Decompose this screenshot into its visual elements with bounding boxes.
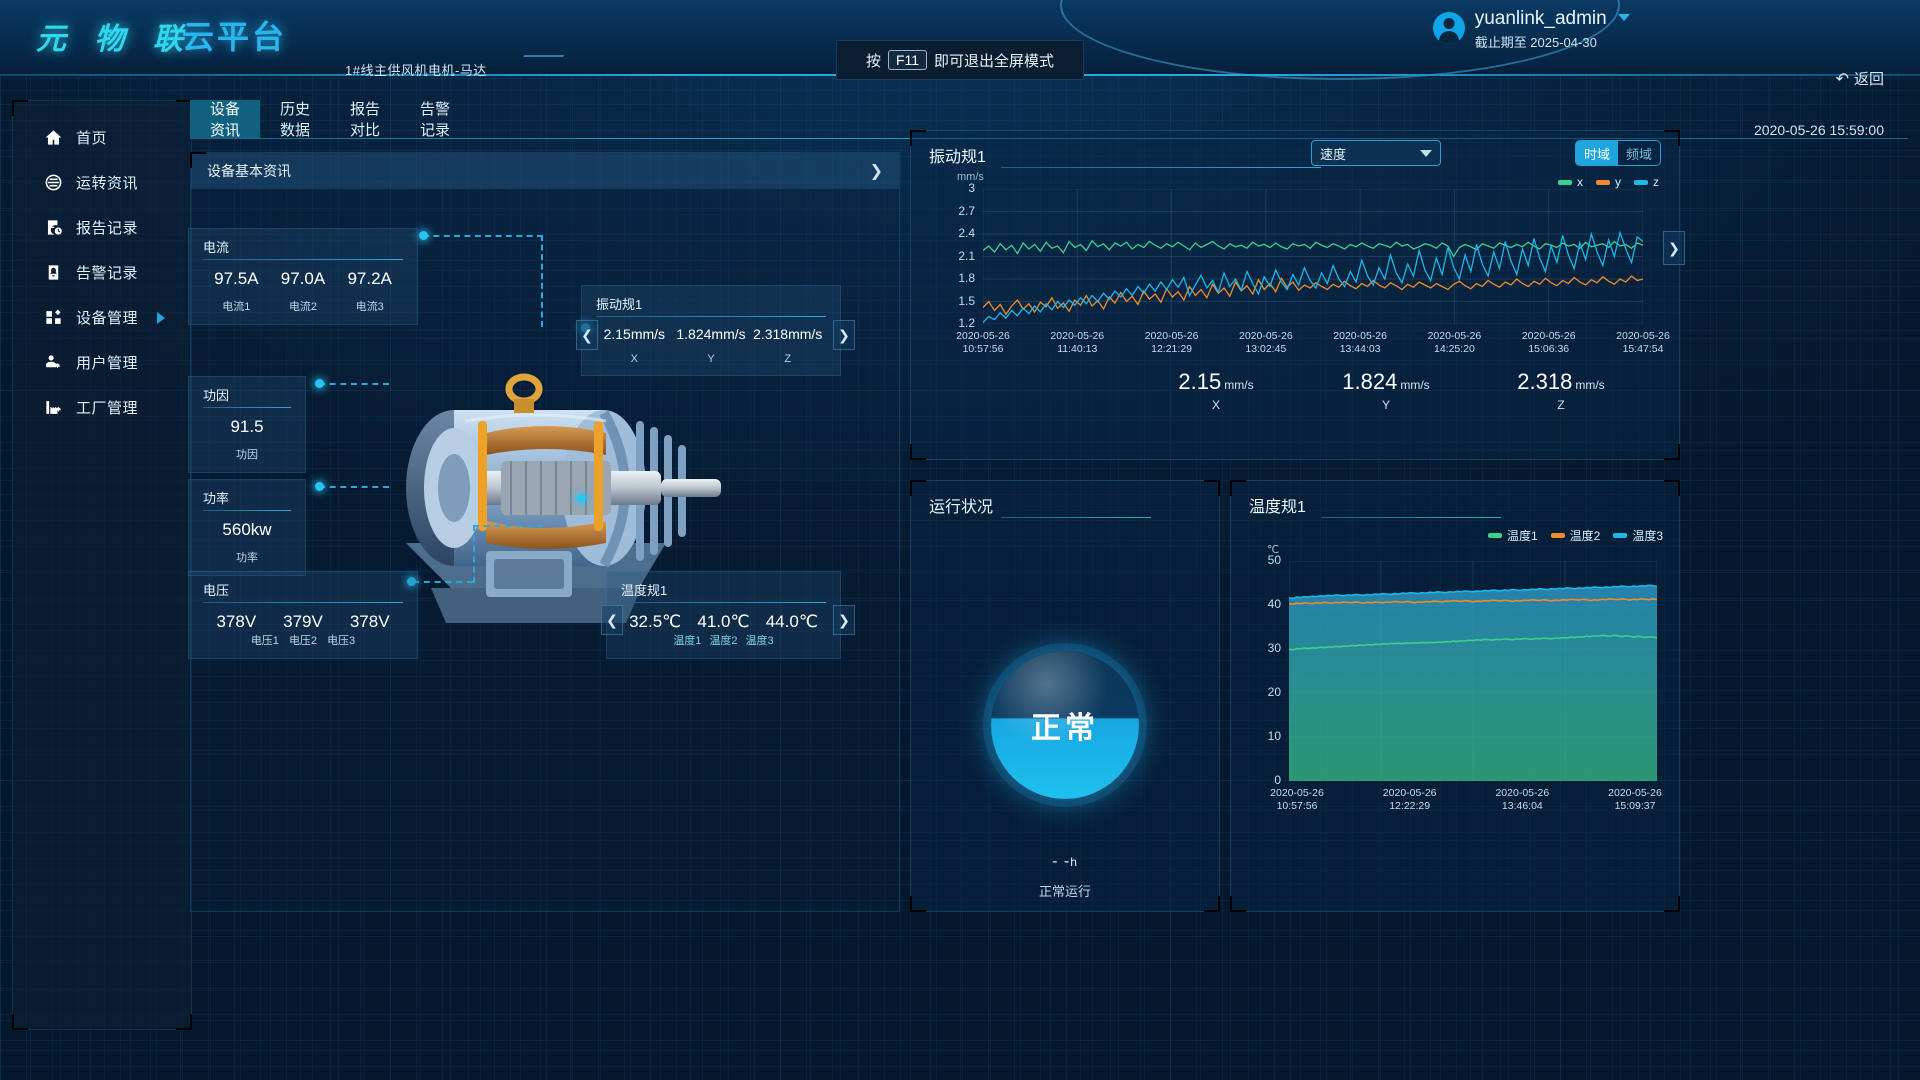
- vibration-metric-select[interactable]: 速度: [1311, 140, 1441, 166]
- card-labels: 电流1 电流2 电流3: [203, 289, 403, 314]
- y-tick-label: 2.4: [941, 226, 975, 240]
- card-rule: [1321, 517, 1501, 518]
- x-tick-label: 2020-05-2613:46:04: [1481, 787, 1563, 813]
- value-unit: ℃: [662, 612, 681, 631]
- card-labels: 温度1 温度2 温度3: [621, 632, 826, 648]
- value-number: 32.5: [629, 612, 662, 631]
- sidebar-item-label: 运转资讯: [76, 172, 138, 193]
- readout-unit: mm/s: [1224, 378, 1253, 392]
- legend-item-y[interactable]: y: [1596, 175, 1621, 189]
- connector-dot: [577, 494, 586, 503]
- domain-toggle: 时域 频域: [1575, 140, 1661, 166]
- value-label: Y: [673, 353, 750, 365]
- legend-swatch: [1551, 533, 1565, 538]
- card-values: 97.5A 97.0A 97.2A: [203, 269, 403, 289]
- card-title: 电流: [203, 237, 403, 256]
- x-tick-label: 2020-05-2610:57:56: [942, 330, 1024, 356]
- readout-axis: Z: [1496, 398, 1626, 412]
- legend-item-x[interactable]: x: [1558, 175, 1583, 189]
- value-number: 97.2: [347, 269, 380, 288]
- value-label: 电流3: [336, 298, 403, 314]
- value-unit: A: [247, 269, 258, 288]
- readout-value: 2.15: [1178, 369, 1221, 394]
- report-clock-icon: [43, 218, 63, 238]
- card-labels: 电压1 电压2 电压3: [203, 632, 403, 648]
- x-tick-label: 2020-05-2612:22:29: [1369, 787, 1451, 813]
- legend-item-z[interactable]: z: [1634, 175, 1659, 189]
- x-tick-label: 2020-05-2613:02:45: [1225, 330, 1307, 356]
- card-rule: [203, 602, 403, 603]
- value-item: 1.824mm/s: [673, 326, 750, 344]
- readout-value: 1.824: [1342, 369, 1397, 394]
- x-tick-label: 2020-05-2615:09:37: [1594, 787, 1676, 813]
- vibration-next-button[interactable]: ❯: [833, 320, 855, 350]
- toggle-time-domain[interactable]: 时域: [1576, 141, 1618, 165]
- value-unit: kw: [251, 520, 272, 539]
- value-unit: ℃: [730, 612, 749, 631]
- brand-logo-cn: 元 物 联: [36, 14, 192, 58]
- card-values: 91.5: [203, 417, 291, 437]
- y-tick-label: 10: [1247, 729, 1281, 743]
- status-sub-label: 正常运行: [911, 881, 1219, 900]
- sidebar-item-label: 报告记录: [76, 217, 138, 238]
- readout-axis: Y: [1321, 398, 1451, 412]
- card-values: 560kw: [203, 520, 291, 540]
- corner-decoration: [910, 130, 926, 146]
- device-info-panel: 设备基本资讯 ❯: [190, 152, 900, 912]
- connector-line: [473, 525, 475, 583]
- card-title: 功因: [203, 385, 291, 404]
- value-item: 2.15mm/s: [596, 326, 673, 344]
- card-power: 功率 560kw 功率: [188, 479, 306, 576]
- grid-blocks-icon: [43, 308, 63, 328]
- temperature-chart-panel: 温度规1 温度1 温度2 温度3 ℃ 01020304050 2020-05-2…: [1230, 480, 1680, 912]
- y-tick-label: 3: [941, 181, 975, 195]
- avatar: [1433, 12, 1465, 44]
- tab-bar: 设备资讯 历史数据 报告对比 告警记录: [190, 100, 470, 138]
- readout-axis: X: [1151, 398, 1281, 412]
- card-temperature: 温度规1 32.5℃ 41.0℃ 44.0℃ 温度1 温度2 温度3: [606, 571, 841, 659]
- value-item: 97.2A: [336, 269, 403, 289]
- connector-line: [413, 581, 473, 583]
- connector-line: [423, 235, 543, 237]
- legend-label: 温度3: [1632, 527, 1663, 544]
- factory-gear-icon: [43, 398, 63, 418]
- vibration-prev-button[interactable]: ❮: [576, 320, 598, 350]
- legend-swatch: [1613, 533, 1627, 538]
- sidebar: 首页 运转资讯 报告记录 告警记录: [12, 100, 192, 1030]
- connector-line: [473, 525, 543, 527]
- sidebar-item-user-management[interactable]: 用户管理: [13, 340, 191, 385]
- sidebar-item-label: 设备管理: [76, 307, 138, 328]
- corner-decoration: [1204, 480, 1220, 496]
- card-rule: [203, 407, 291, 408]
- corner-decoration: [1664, 444, 1680, 460]
- temperature-prev-button[interactable]: ❮: [601, 605, 623, 635]
- x-tick-label: 2020-05-2615:47:54: [1602, 330, 1684, 356]
- value-unit: V: [378, 612, 389, 631]
- value-unit: ℃: [799, 612, 818, 631]
- globe-icon: [43, 173, 63, 193]
- card-title: 振动规1: [596, 294, 826, 313]
- user-expiry: 截止期至 2025-04-30: [1475, 32, 1630, 51]
- value-label: X: [596, 353, 673, 365]
- x-tick-label: 2020-05-2613:44:03: [1319, 330, 1401, 356]
- line-title: 1#线主供风机电机-马达: [345, 60, 487, 79]
- brand-platform-label: 云平台: [182, 12, 287, 58]
- value-label: 电压3: [327, 632, 355, 648]
- value-number: 378: [350, 612, 378, 631]
- chevron-down-icon: [1420, 150, 1432, 157]
- value-item: 32.5℃: [621, 612, 689, 632]
- y-tick-label: 1.2: [941, 316, 975, 330]
- legend-item-temp2[interactable]: 温度2: [1551, 527, 1601, 544]
- y-tick-label: 40: [1247, 597, 1281, 611]
- connector-line: [319, 383, 389, 385]
- user-menu[interactable]: yuanlink_admin 截止期至 2025-04-30: [1433, 8, 1630, 51]
- sidebar-item-label: 首页: [76, 127, 107, 148]
- connector-dot: [315, 482, 324, 491]
- card-values: 378V 379V 378V: [203, 612, 403, 632]
- value-label: 功率: [203, 549, 291, 565]
- panel-title: 设备基本资讯: [207, 161, 291, 181]
- card-labels: 功率: [203, 540, 291, 565]
- vibration-chart-next-button[interactable]: ❯: [1663, 231, 1685, 265]
- corner-decoration: [176, 1014, 192, 1030]
- panel-title: 温度规1: [1249, 493, 1306, 517]
- tab-history-data[interactable]: 历史数据: [260, 100, 330, 138]
- value-item: 2.318mm/s: [749, 326, 826, 344]
- x-tick-label: 2020-05-2615:06:36: [1508, 330, 1590, 356]
- card-title: 温度规1: [621, 580, 826, 599]
- sidebar-nav: 首页 运转资讯 报告记录 告警记录: [13, 101, 191, 430]
- readout-unit: mm/s: [1575, 378, 1604, 392]
- value-number: 560: [222, 520, 250, 539]
- card-title: 功率: [203, 488, 291, 507]
- card-rule: [203, 259, 403, 260]
- x-tick-label: 2020-05-2610:57:56: [1256, 787, 1338, 813]
- back-arrow-icon: ↶: [1836, 69, 1849, 89]
- app-root: 元 物 联 云平台 1#线主供风机电机-马达 按 F11 即可退出全屏模式 yu…: [0, 0, 1920, 1080]
- card-values: 2.15mm/s 1.824mm/s 2.318mm/s: [596, 326, 826, 344]
- corner-decoration: [190, 152, 206, 168]
- card-rule: [1001, 517, 1151, 518]
- value-unit: A: [314, 269, 325, 288]
- value-number: 378: [216, 612, 244, 631]
- running-hours-unit: h: [1070, 855, 1078, 869]
- corner-decoration: [1230, 896, 1246, 912]
- y-tick-label: 20: [1247, 685, 1281, 699]
- legend-label: x: [1577, 175, 1583, 189]
- sidebar-item-label: 告警记录: [76, 262, 138, 283]
- y-tick-label: 1.5: [941, 294, 975, 308]
- vibration-plot: [983, 189, 1643, 324]
- readout-unit: mm/s: [1400, 378, 1429, 392]
- chevron-down-icon[interactable]: [1618, 14, 1630, 21]
- corner-decoration: [1664, 480, 1680, 496]
- legend-label: 温度1: [1507, 527, 1538, 544]
- legend-item-temp3[interactable]: 温度3: [1613, 527, 1663, 544]
- legend-swatch: [1634, 180, 1648, 185]
- x-tick-label: 2020-05-2614:25:20: [1413, 330, 1495, 356]
- x-tick-label: 2020-05-2612:21:29: [1131, 330, 1213, 356]
- value-item: 379V: [270, 612, 337, 632]
- running-hours-value: - -: [1052, 853, 1070, 870]
- sidebar-item-label: 工厂管理: [76, 397, 138, 418]
- x-tick-label: 2020-05-2611:40:13: [1036, 330, 1118, 356]
- temperature-plot: [1289, 561, 1657, 781]
- readout-z: 2.318mm/s Z: [1496, 369, 1626, 412]
- connector-line: [541, 235, 543, 327]
- fullscreen-hint-prefix: 按: [866, 50, 881, 71]
- value-item: 97.0A: [270, 269, 337, 289]
- card-rule: [1001, 167, 1321, 168]
- value-unit: V: [312, 612, 323, 631]
- value-number: 97.0: [281, 269, 314, 288]
- card-power-factor: 功因 91.5 功因: [188, 376, 306, 473]
- value-number: 2.15mm/s: [604, 326, 665, 342]
- user-gear-icon: [43, 353, 63, 373]
- connector-line: [319, 486, 389, 488]
- corner-decoration: [1664, 896, 1680, 912]
- value-number: 44.0: [766, 612, 799, 631]
- legend-swatch: [1488, 533, 1502, 538]
- card-voltage: 电压 378V 379V 378V 电压1 电压2 电压3: [188, 571, 418, 659]
- value-item: 97.5A: [203, 269, 270, 289]
- connector-dot: [315, 379, 324, 388]
- select-value: 速度: [1320, 144, 1420, 163]
- fullscreen-hint: 按 F11 即可退出全屏模式: [836, 40, 1084, 80]
- value-item: 44.0℃: [758, 612, 826, 632]
- sidebar-item-home[interactable]: 首页: [13, 115, 191, 160]
- panel-title: 振动规1: [929, 143, 986, 167]
- user-name-row[interactable]: yuanlink_admin: [1475, 8, 1630, 30]
- vibration-legend: x y z: [1558, 175, 1659, 189]
- status-orb: 正常: [991, 651, 1139, 799]
- value-number: 91.5: [230, 417, 263, 436]
- legend-label: 温度2: [1570, 527, 1601, 544]
- corner-decoration: [12, 1014, 28, 1030]
- sidebar-item-factory-management[interactable]: 工厂管理: [13, 385, 191, 430]
- value-item: 560kw: [203, 520, 291, 540]
- value-number: 379: [283, 612, 311, 631]
- sidebar-item-label: 用户管理: [76, 352, 138, 373]
- value-label: 温度1: [673, 632, 701, 648]
- tab-alarm-records[interactable]: 告警记录: [400, 100, 470, 138]
- back-label: 返回: [1854, 68, 1884, 89]
- y-tick-label: 0: [1247, 773, 1281, 787]
- value-label: 电压1: [251, 632, 279, 648]
- card-labels: X Y Z: [596, 344, 826, 365]
- status-panel: 运行状况 正常 - -h 正常运行: [910, 480, 1220, 912]
- readout-y: 1.824mm/s Y: [1321, 369, 1451, 412]
- value-unit: V: [245, 612, 256, 631]
- chevron-right-icon[interactable]: [157, 312, 165, 324]
- vibration-chart-panel: 振动规1 速度 时域 频域 x y z mm/s 1.21.51.82.12.4…: [910, 130, 1680, 460]
- value-label: Z: [749, 353, 826, 365]
- readout-value: 2.318: [1517, 369, 1572, 394]
- value-label: 温度3: [746, 632, 774, 648]
- sidebar-item-alarms[interactable]: 告警记录: [13, 250, 191, 295]
- legend-label: z: [1653, 175, 1659, 189]
- y-tick-label: 50: [1247, 553, 1281, 567]
- value-item: 91.5: [203, 417, 291, 437]
- tab-report-compare[interactable]: 报告对比: [330, 100, 400, 138]
- value-label: 电压2: [289, 632, 317, 648]
- value-number: 2.318mm/s: [753, 326, 822, 342]
- value-label: 电流1: [203, 298, 270, 314]
- corner-decoration: [12, 100, 28, 116]
- value-item: 41.0℃: [689, 612, 757, 632]
- corner-decoration: [910, 480, 926, 496]
- status-orb-wrapper: 正常: [991, 651, 1139, 799]
- sidebar-item-device-management[interactable]: 设备管理: [13, 295, 191, 340]
- card-rule: [596, 316, 826, 317]
- corner-decoration: [1230, 480, 1246, 496]
- temperature-legend: 温度1 温度2 温度3: [1488, 527, 1663, 544]
- connector-dot: [419, 231, 428, 240]
- user-name: yuanlink_admin: [1475, 8, 1607, 29]
- tab-device-info[interactable]: 设备资讯: [190, 100, 260, 138]
- legend-swatch: [1558, 180, 1572, 185]
- card-rule: [203, 510, 291, 511]
- chevron-right-icon[interactable]: ❯: [870, 161, 883, 181]
- corner-decoration: [910, 444, 926, 460]
- sidebar-item-operations[interactable]: 运转资讯: [13, 160, 191, 205]
- card-rule: [621, 602, 826, 603]
- card-current: 电流 97.5A 97.0A 97.2A 电流1 电流2 电流3: [188, 228, 418, 325]
- value-item: 378V: [203, 612, 270, 632]
- status-text: 正常: [1031, 703, 1099, 747]
- value-label: 功因: [203, 446, 291, 462]
- current-timestamp: 2020-05-26 15:59:00: [1754, 122, 1884, 138]
- toggle-frequency-domain[interactable]: 频域: [1618, 141, 1660, 165]
- temperature-next-button[interactable]: ❯: [833, 605, 855, 635]
- y-tick-label: 30: [1247, 641, 1281, 655]
- legend-label: y: [1615, 175, 1621, 189]
- value-item: 378V: [336, 612, 403, 632]
- running-hours: - -h: [911, 853, 1219, 871]
- y-tick-label: 2.1: [941, 249, 975, 263]
- card-title: 电压: [203, 580, 403, 599]
- y-tick-label: 1.8: [941, 271, 975, 285]
- corner-decoration: [1664, 130, 1680, 146]
- home-icon: [43, 128, 63, 148]
- fullscreen-hint-suffix: 即可退出全屏模式: [934, 50, 1054, 71]
- y-tick-label: 2.7: [941, 204, 975, 218]
- back-button[interactable]: ↶ 返回: [1836, 68, 1884, 89]
- card-values: 32.5℃ 41.0℃ 44.0℃: [621, 612, 826, 632]
- value-number: 97.5: [214, 269, 247, 288]
- readout-x: 2.15mm/s X: [1151, 369, 1281, 412]
- card-labels: 功因: [203, 437, 291, 462]
- fullscreen-key: F11: [888, 50, 927, 70]
- sidebar-item-reports[interactable]: 报告记录: [13, 205, 191, 250]
- card-vibration: 振动规1 2.15mm/s 1.824mm/s 2.318mm/s X Y Z: [581, 285, 841, 376]
- value-label: 温度2: [709, 632, 737, 648]
- panel-title: 运行状况: [929, 493, 993, 517]
- value-number: 1.824mm/s: [676, 326, 745, 342]
- device-info-header[interactable]: 设备基本资讯 ❯: [191, 153, 899, 189]
- alarm-clipboard-icon: [43, 263, 63, 283]
- legend-item-temp1[interactable]: 温度1: [1488, 527, 1538, 544]
- value-number: 41.0: [697, 612, 730, 631]
- legend-swatch: [1596, 180, 1610, 185]
- value-unit: A: [381, 269, 392, 288]
- value-label: 电流2: [270, 298, 337, 314]
